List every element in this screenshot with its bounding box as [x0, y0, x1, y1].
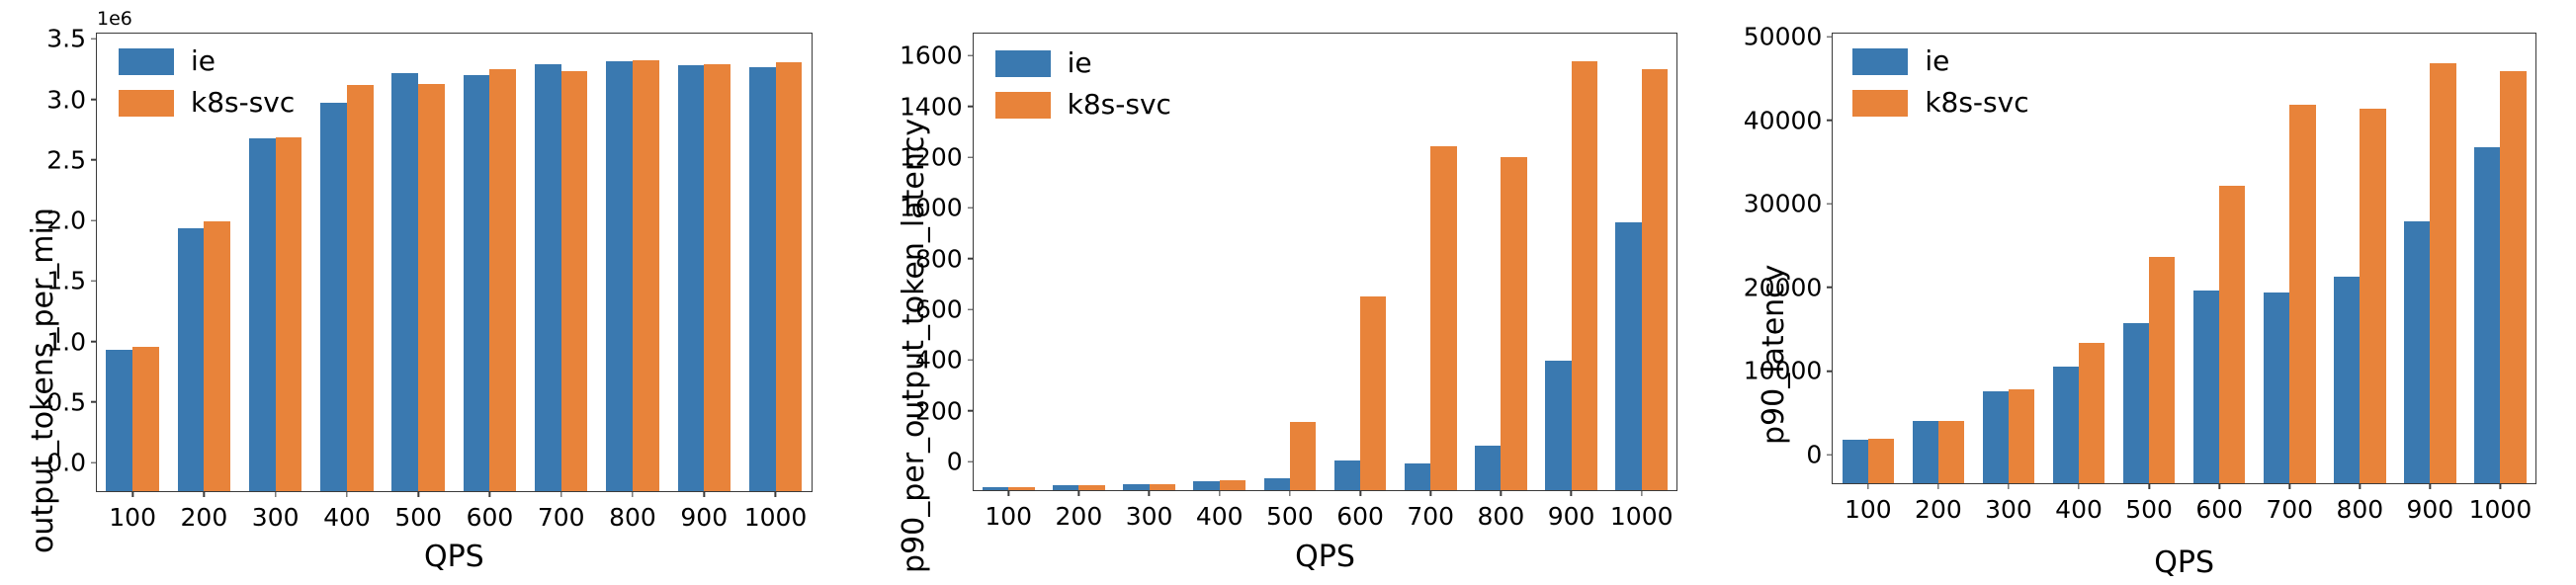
x-tick-label: 900 — [2407, 483, 2454, 524]
bar-ie-300 — [1123, 484, 1149, 490]
x-tick-label: 800 — [1478, 490, 1525, 531]
bar-ie-1000 — [2474, 147, 2500, 483]
x-tick-label: 600 — [467, 491, 514, 532]
bar-ie-1000 — [749, 67, 776, 491]
legend-swatch-icon — [119, 48, 174, 75]
bar-k8s-svc-600 — [2219, 186, 2245, 483]
bar-k8s-svc-100 — [132, 347, 159, 491]
y-tick-label: 1600 — [900, 42, 974, 70]
bar-k8s-svc-300 — [276, 137, 302, 491]
legend-swatch-icon — [995, 50, 1051, 77]
bar-k8s-svc-500 — [1290, 422, 1316, 490]
y-tick-label: 200 — [915, 396, 974, 425]
bar-ie-300 — [249, 138, 276, 491]
bar-k8s-svc-400 — [1220, 480, 1245, 490]
y-tick-label: 2.5 — [46, 145, 97, 174]
y-tick-label: 1400 — [900, 92, 974, 121]
legend: iek8s-svc — [1852, 47, 2028, 117]
legend-swatch-icon — [1852, 90, 1908, 117]
legend-item-k8s-svc[interactable]: k8s-svc — [995, 91, 1171, 119]
bar-ie-400 — [2053, 367, 2079, 483]
bar-ie-1000 — [1615, 222, 1641, 490]
x-tick-label: 200 — [1056, 490, 1103, 531]
x-tick-label: 300 — [1126, 490, 1173, 531]
bar-k8s-svc-400 — [347, 85, 374, 491]
x-tick-label: 900 — [680, 491, 728, 532]
bar-k8s-svc-800 — [633, 60, 659, 491]
x-tick-label: 100 — [109, 491, 156, 532]
bar-k8s-svc-1000 — [1642, 69, 1668, 490]
legend-item-ie[interactable]: ie — [995, 49, 1171, 77]
legend-label: ie — [1925, 47, 1949, 75]
bar-ie-200 — [1053, 485, 1078, 490]
x-tick-label: 200 — [181, 491, 228, 532]
bar-ie-800 — [606, 61, 633, 491]
x-tick-label: 500 — [1266, 490, 1314, 531]
bar-ie-100 — [983, 487, 1008, 490]
y-tick-label: 50000 — [1744, 23, 1834, 51]
bar-k8s-svc-100 — [1008, 487, 1034, 490]
x-axis-label: QPS — [973, 540, 1678, 574]
y-tick-label: 40000 — [1744, 106, 1834, 134]
bar-k8s-svc-600 — [1360, 296, 1386, 490]
legend-swatch-icon — [995, 92, 1051, 119]
legend-label: k8s-svc — [1925, 89, 2028, 117]
legend-label: ie — [191, 47, 215, 75]
y-tick-label: 0 — [947, 448, 974, 476]
bar-ie-100 — [106, 350, 132, 491]
legend-swatch-icon — [1852, 48, 1908, 75]
y-tick-label: 1000 — [900, 194, 974, 222]
x-tick-label: 200 — [1915, 483, 1962, 524]
bar-ie-500 — [2123, 323, 2149, 483]
plot-area: 01000020000300004000050000 1002003004005… — [1832, 33, 2536, 484]
x-tick-label: 700 — [538, 491, 585, 532]
bar-k8s-svc-900 — [2430, 63, 2455, 483]
y-tick-label: 2.0 — [46, 207, 97, 235]
legend-swatch-icon — [119, 90, 174, 117]
panel-output-tokens-per-min: 1e6 output_tokens_per_min QPS 0.00.51.01… — [0, 0, 859, 585]
x-tick-label: 300 — [252, 491, 300, 532]
bar-ie-100 — [1843, 440, 1868, 483]
panel-p90-per-output-token-latency: p90_per_output_token_latency QPS 0200400… — [859, 0, 1718, 585]
bar-ie-600 — [1334, 460, 1360, 490]
x-tick-label: 700 — [1407, 490, 1454, 531]
legend-label: k8s-svc — [191, 89, 295, 117]
x-tick-label: 400 — [1196, 490, 1244, 531]
panel-p90-latency: p90_latency QPS 010000200003000040000500… — [1717, 0, 2576, 585]
x-tick-label: 100 — [985, 490, 1032, 531]
x-tick-label: 800 — [609, 491, 656, 532]
x-tick-label: 400 — [323, 491, 371, 532]
legend-label: ie — [1068, 49, 1092, 77]
x-tick-label: 500 — [2125, 483, 2173, 524]
bar-ie-800 — [2334, 277, 2360, 483]
figure-bar-chart-triptych: 1e6 output_tokens_per_min QPS 0.00.51.01… — [0, 0, 2576, 585]
bar-ie-700 — [535, 64, 561, 491]
x-tick-label: 1000 — [744, 491, 808, 532]
y-tick-label: 600 — [915, 295, 974, 324]
y-tick-label: 800 — [915, 244, 974, 273]
legend: iek8s-svc — [995, 49, 1171, 119]
bar-ie-300 — [1983, 391, 2009, 483]
bar-ie-400 — [320, 103, 347, 491]
y-tick-label: 1.5 — [46, 267, 97, 295]
x-axis-label: QPS — [1832, 545, 2536, 580]
x-tick-label: 300 — [1985, 483, 2032, 524]
legend-item-k8s-svc[interactable]: k8s-svc — [1852, 89, 2028, 117]
x-tick-label: 400 — [2055, 483, 2103, 524]
x-tick-label: 500 — [394, 491, 442, 532]
y-tick-label: 0 — [1806, 441, 1833, 469]
legend-item-k8s-svc[interactable]: k8s-svc — [119, 89, 295, 117]
x-tick-label: 600 — [2195, 483, 2243, 524]
bar-k8s-svc-200 — [1078, 485, 1104, 490]
y-tick-label: 0.5 — [46, 387, 97, 416]
y-tick-label: 20000 — [1744, 273, 1834, 301]
legend-item-ie[interactable]: ie — [1852, 47, 2028, 75]
bar-k8s-svc-300 — [2009, 389, 2034, 483]
bar-k8s-svc-800 — [2360, 109, 2385, 483]
bar-k8s-svc-200 — [1938, 421, 1964, 483]
x-tick-label: 900 — [1548, 490, 1595, 531]
bar-ie-900 — [1545, 361, 1571, 490]
y-tick-label: 1200 — [900, 143, 974, 172]
x-tick-label: 600 — [1336, 490, 1384, 531]
x-tick-label: 100 — [1845, 483, 1892, 524]
y-tick-label: 10000 — [1744, 357, 1834, 385]
plot-area: 0.00.51.01.52.02.53.03.5 100200300400500… — [96, 33, 813, 492]
bar-ie-900 — [678, 65, 705, 491]
legend: iek8s-svc — [119, 47, 295, 117]
bar-ie-800 — [1475, 446, 1501, 490]
bar-ie-600 — [2193, 291, 2219, 483]
y-tick-label: 400 — [915, 346, 974, 375]
x-tick-label: 1000 — [2469, 483, 2533, 524]
y-tick-label: 0.0 — [46, 449, 97, 477]
bar-k8s-svc-700 — [2289, 105, 2315, 483]
bar-ie-900 — [2404, 221, 2430, 483]
bar-k8s-svc-900 — [704, 64, 730, 491]
x-tick-label: 800 — [2336, 483, 2383, 524]
bar-ie-200 — [178, 228, 205, 491]
bar-k8s-svc-900 — [1572, 61, 1597, 490]
x-tick-label: 700 — [2266, 483, 2313, 524]
x-tick-label: 1000 — [1610, 490, 1674, 531]
bar-k8s-svc-600 — [489, 69, 516, 491]
bar-k8s-svc-700 — [1430, 146, 1456, 490]
y-tick-label: 1.0 — [46, 327, 97, 356]
bar-k8s-svc-1000 — [776, 62, 803, 491]
bar-k8s-svc-300 — [1150, 484, 1175, 490]
bar-k8s-svc-500 — [2149, 257, 2175, 483]
y-tick-label: 3.0 — [46, 85, 97, 114]
y-axis-label: output_tokens_per_min — [26, 208, 60, 553]
bar-ie-500 — [1264, 478, 1290, 490]
bar-k8s-svc-500 — [418, 84, 445, 491]
plot-area: 02004006008001000120014001600 1002003004… — [973, 33, 1678, 491]
y-tick-label: 30000 — [1744, 190, 1834, 218]
bar-ie-500 — [391, 73, 418, 491]
bar-k8s-svc-400 — [2079, 343, 2104, 483]
bar-ie-700 — [2264, 292, 2289, 483]
legend-label: k8s-svc — [1068, 91, 1171, 119]
x-axis-label: QPS — [96, 540, 813, 574]
bar-k8s-svc-1000 — [2500, 71, 2526, 483]
bar-k8s-svc-800 — [1501, 157, 1526, 490]
bar-ie-200 — [1913, 421, 1938, 483]
legend-item-ie[interactable]: ie — [119, 47, 295, 75]
y-axis-offset-text: 1e6 — [97, 8, 132, 30]
bar-ie-700 — [1405, 463, 1430, 490]
y-tick-label: 3.5 — [46, 25, 97, 53]
bar-ie-400 — [1193, 481, 1219, 490]
bar-k8s-svc-700 — [561, 71, 588, 491]
bar-ie-600 — [464, 75, 490, 491]
bar-k8s-svc-200 — [204, 221, 230, 491]
bar-k8s-svc-100 — [1868, 439, 1894, 483]
